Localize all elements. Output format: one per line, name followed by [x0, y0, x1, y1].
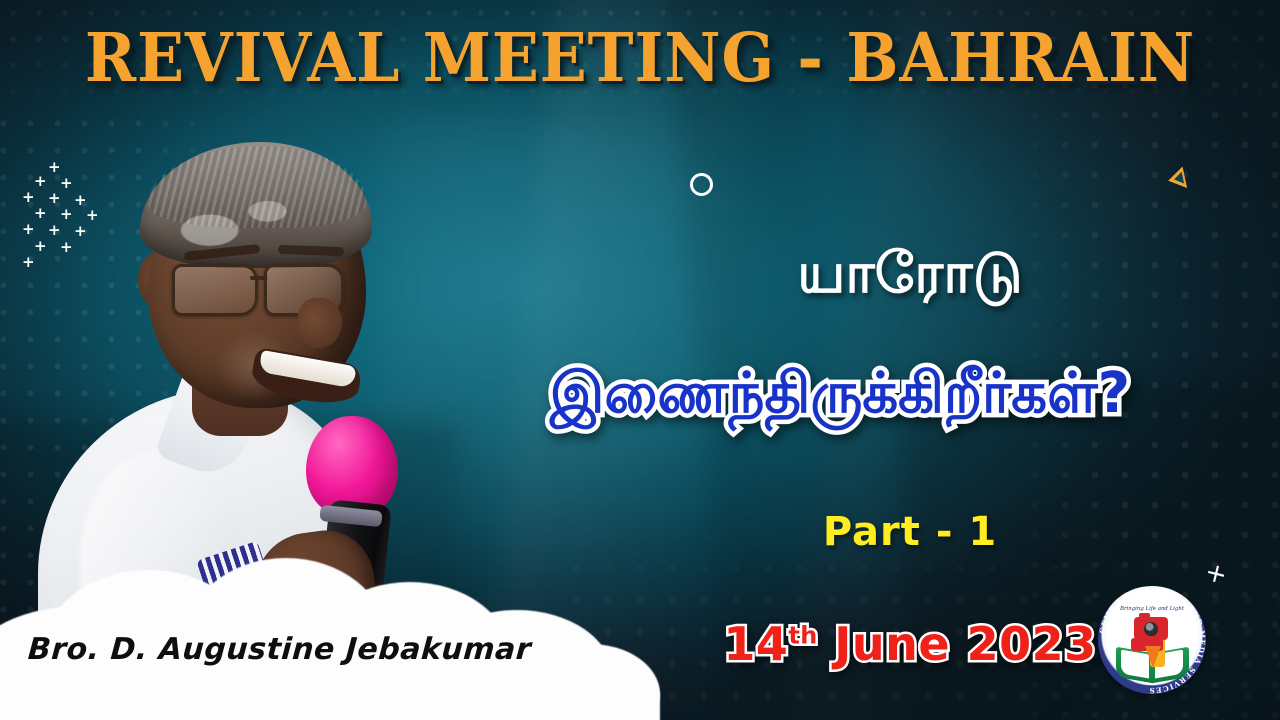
tamil-headline-line1: யாரோடு	[560, 246, 1260, 302]
camera-icon	[1134, 617, 1168, 640]
gems-logo[interactable]: GEMS EDUCATIONAL AND MEDIA SERVICES Brin…	[1098, 586, 1206, 694]
pen-nib-icon	[1145, 646, 1161, 668]
tamil-headline-line2: இணைந்திருக்கிறீர்கள்?	[400, 366, 1280, 422]
page-title: REVIVAL MEETING - BAHRAIN	[51, 18, 1229, 97]
glasses-lens	[172, 264, 258, 316]
header-band: REVIVAL MEETING - BAHRAIN	[0, 0, 1280, 118]
logo-tagline: Bringing Life and Light	[1098, 606, 1206, 612]
date-ordinal: th	[788, 622, 817, 650]
part-label: Part - 1	[560, 509, 1260, 555]
microphone-windscreen	[306, 416, 398, 514]
date-day: 14	[723, 617, 788, 671]
speaker-name: Bro. D. Augustine Jebakumar	[27, 632, 533, 667]
date-month-year: June 2023	[818, 617, 1097, 671]
circle-outline-icon	[690, 173, 713, 196]
poster-canvas: + + + + + + + + + + + + + + + + REVIVAL …	[0, 0, 1280, 720]
